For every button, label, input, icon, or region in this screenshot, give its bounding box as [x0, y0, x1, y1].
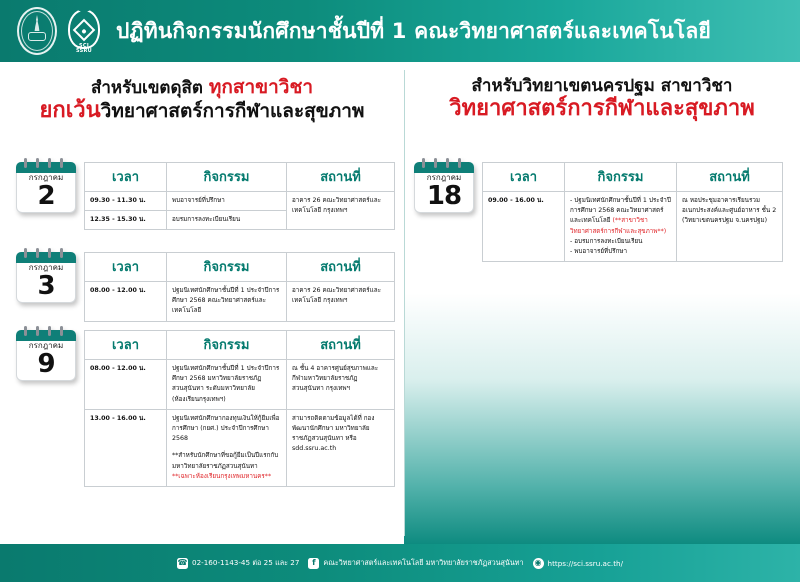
cell-activity: อบรมการลงทะเบียนเรียน: [167, 211, 287, 230]
cell-activity: ปฐมนิเทศนักศึกษากองทุนเงินให้กู้ยืมเพื่อ…: [167, 409, 287, 486]
col-header-time: เวลา: [85, 331, 167, 360]
calendar-day-number: 3: [17, 273, 75, 300]
table-row: 13.00 - 16.00 น. ปฐมนิเทศนักศึกษากองทุนเ…: [85, 409, 395, 486]
left-heading-accent-2: ยกเว้น: [40, 98, 101, 123]
cell-place: อาคาร 26 คณะวิทยาศาสตร์และเทคโนโลยี กรุง…: [287, 192, 395, 230]
cell-time: 08.00 - 12.00 น.: [85, 282, 167, 322]
table-header-row: เวลา กิจกรรม สถานที่: [85, 253, 395, 282]
col-header-place: สถานที่: [287, 331, 395, 360]
day-block-july-2: กรกฎาคม 2 เวลา กิจกรรม สถานที่ 09.30 - 1…: [16, 162, 395, 230]
table-header-row: เวลา กิจกรรม สถานที่: [483, 163, 783, 192]
left-heading-plain-1: สำหรับเขตดุสิต: [91, 78, 209, 98]
right-heading-accent: วิทยาศาสตร์การกีฬาและสุขภาพ: [449, 96, 754, 121]
col-header-time: เวลา: [85, 163, 167, 192]
table-row: 09.30 - 11.30 น. พบอาจารย์ที่ปรึกษา อาคา…: [85, 192, 395, 211]
col-header-place: สถานที่: [677, 163, 783, 192]
footer-phone: ☎ 02-160-1143-45 ต่อ 25 และ 27: [177, 558, 299, 569]
page-header: SCISSRU ปฏิทินกิจกรรมนักศึกษาชั้นปีที่ 1…: [0, 0, 800, 62]
day-block-july-9: กรกฎาคม 9 เวลา กิจกรรม สถานที่ 08.00 - 1…: [16, 330, 395, 487]
cell-activity: ปฐมนิเทศนักศึกษาชั้นปีที่ 1 ประจำปีการศึ…: [167, 360, 287, 410]
right-panel-nakhonpathom: สำหรับวิทยาเขตนครปฐม สาขาวิชา วิทยาศาสตร…: [404, 62, 800, 544]
col-header-time: เวลา: [85, 253, 167, 282]
col-header-place: สถานที่: [287, 163, 395, 192]
footer-facebook[interactable]: f คณะวิทยาศาสตร์และเทคโนโลยี มหาวิทยาลัย…: [308, 558, 523, 569]
calendar-day-number: 18: [415, 183, 473, 210]
col-header-activity: กิจกรรม: [167, 253, 287, 282]
cell-time: 12.35 - 15.30 น.: [85, 211, 167, 230]
cell-place-note: สามารถติดตามข้อมูลได้ที่ กองพัฒนานักศึกษ…: [287, 409, 395, 486]
table-row: 08.00 - 12.00 น. ปฐมนิเทศนักศึกษาชั้นปีท…: [85, 282, 395, 322]
cell-place: ณ หอประชุมอาคารเรียนรวมอเนกประสงค์และศูน…: [677, 192, 783, 262]
ssru-university-seal-logo: [14, 5, 60, 57]
calendar-date-icon-9: กรกฎาคม 9: [16, 330, 76, 381]
calendar-day-number: 9: [17, 351, 75, 378]
page-title: ปฏิทินกิจกรรมนักศึกษาชั้นปีที่ 1 คณะวิทย…: [116, 15, 711, 48]
activity-line-3-note: **เฉพาะห้องเรียนกรุงเทพมหานคร**: [172, 473, 271, 480]
col-header-time: เวลา: [483, 163, 565, 192]
panel-divider: [404, 70, 405, 536]
table-row: 09.00 - 16.00 น. - ปฐมนิเทศนักศึกษาชั้นป…: [483, 192, 783, 262]
calendar-day-number: 2: [17, 183, 75, 210]
activity-line-1: ปฐมนิเทศนักศึกษากองทุนเงินให้กู้ยืมเพื่อ…: [172, 415, 279, 442]
right-panel-heading: สำหรับวิทยาเขตนครปฐม สาขาวิชา วิทยาศาสตร…: [404, 62, 800, 122]
table-row: 08.00 - 12.00 น. ปฐมนิเทศนักศึกษาชั้นปีท…: [85, 360, 395, 410]
footer-website-text: https://sci.ssru.ac.th/: [548, 559, 623, 568]
cell-activity: ปฐมนิเทศนักศึกษาชั้นปีที่ 1 ประจำปีการศึ…: [167, 282, 287, 322]
footer-facebook-text: คณะวิทยาศาสตร์และเทคโนโลยี มหาวิทยาลัยรา…: [323, 558, 523, 569]
globe-icon: ◉: [533, 558, 544, 569]
faculty-logo-sub: SSRU: [76, 48, 92, 54]
schedule-table-july-3: เวลา กิจกรรม สถานที่ 08.00 - 12.00 น. ปฐ…: [84, 252, 395, 322]
cell-time: 09.30 - 11.30 น.: [85, 192, 167, 211]
activity-line-4: - พบอาจารย์ที่ปรึกษา: [570, 247, 671, 257]
cell-activity: - ปฐมนิเทศนักศึกษาชั้นปีที่ 1 ประจำปีการ…: [565, 192, 677, 262]
schedule-table-july-18: เวลา กิจกรรม สถานที่ 09.00 - 16.00 น. - …: [482, 162, 783, 262]
footer-phone-text: 02-160-1143-45 ต่อ 25 และ 27: [192, 558, 299, 569]
facebook-icon: f: [308, 558, 319, 569]
phone-icon: ☎: [177, 558, 188, 569]
table-header-row: เวลา กิจกรรม สถานที่: [85, 331, 395, 360]
left-panel-dusit: สำหรับเขตดุสิต ทุกสาขาวิชา ยกเว้นวิทยาศา…: [0, 62, 404, 544]
left-heading-accent-1: ทุกสาขาวิชา: [209, 76, 313, 98]
cell-place: อาคาร 26 คณะวิทยาศาสตร์และเทคโนโลยี กรุง…: [287, 282, 395, 322]
day-block-july-3: กรกฎาคม 3 เวลา กิจกรรม สถานที่ 08.00 - 1…: [16, 252, 395, 322]
page-footer: ☎ 02-160-1143-45 ต่อ 25 และ 27 f คณะวิทย…: [0, 544, 800, 582]
day-block-july-18: กรกฎาคม 18 เวลา กิจกรรม สถานที่ 09.00 - …: [414, 162, 783, 262]
left-panel-heading: สำหรับเขตดุสิต ทุกสาขาวิชา ยกเว้นวิทยาศา…: [0, 62, 404, 124]
footer-website[interactable]: ◉ https://sci.ssru.ac.th/: [533, 558, 623, 569]
cell-time: 13.00 - 16.00 น.: [85, 409, 167, 486]
faculty-science-logo: SCISSRU: [64, 8, 104, 54]
col-header-activity: กิจกรรม: [167, 331, 287, 360]
content-panels: สำหรับเขตดุสิต ทุกสาขาวิชา ยกเว้นวิทยาศา…: [0, 62, 800, 544]
table-header-row: เวลา กิจกรรม สถานที่: [85, 163, 395, 192]
activity-line-2: **สำหรับนักศึกษาที่ขอกู้ยืมเป็นปีแรกกับม…: [172, 452, 278, 469]
cell-time: 09.00 - 16.00 น.: [483, 192, 565, 262]
cell-place: ณ ชั้น 4 อาคารศูนย์สุขภาพและกีฬามหาวิทยา…: [287, 360, 395, 410]
col-header-place: สถานที่: [287, 253, 395, 282]
calendar-infographic: SCISSRU ปฏิทินกิจกรรมนักศึกษาชั้นปีที่ 1…: [0, 0, 800, 582]
col-header-activity: กิจกรรม: [167, 163, 287, 192]
col-header-activity: กิจกรรม: [565, 163, 677, 192]
calendar-date-icon-2: กรกฎาคม 2: [16, 162, 76, 213]
schedule-table-july-9: เวลา กิจกรรม สถานที่ 08.00 - 12.00 น. ปฐ…: [84, 330, 395, 487]
activity-line-3: - อบรมการลงทะเบียนเรียน: [570, 237, 671, 247]
schedule-table-july-2: เวลา กิจกรรม สถานที่ 09.30 - 11.30 น. พบ…: [84, 162, 395, 230]
calendar-date-icon-3: กรกฎาคม 3: [16, 252, 76, 303]
right-heading-line-1: สำหรับวิทยาเขตนครปฐม สาขาวิชา: [404, 76, 800, 96]
cell-activity: พบอาจารย์ที่ปรึกษา: [167, 192, 287, 211]
cell-time: 08.00 - 12.00 น.: [85, 360, 167, 410]
calendar-date-icon-18: กรกฎาคม 18: [414, 162, 474, 213]
left-heading-plain-2: วิทยาศาสตร์การกีฬาและสุขภาพ: [101, 100, 365, 122]
